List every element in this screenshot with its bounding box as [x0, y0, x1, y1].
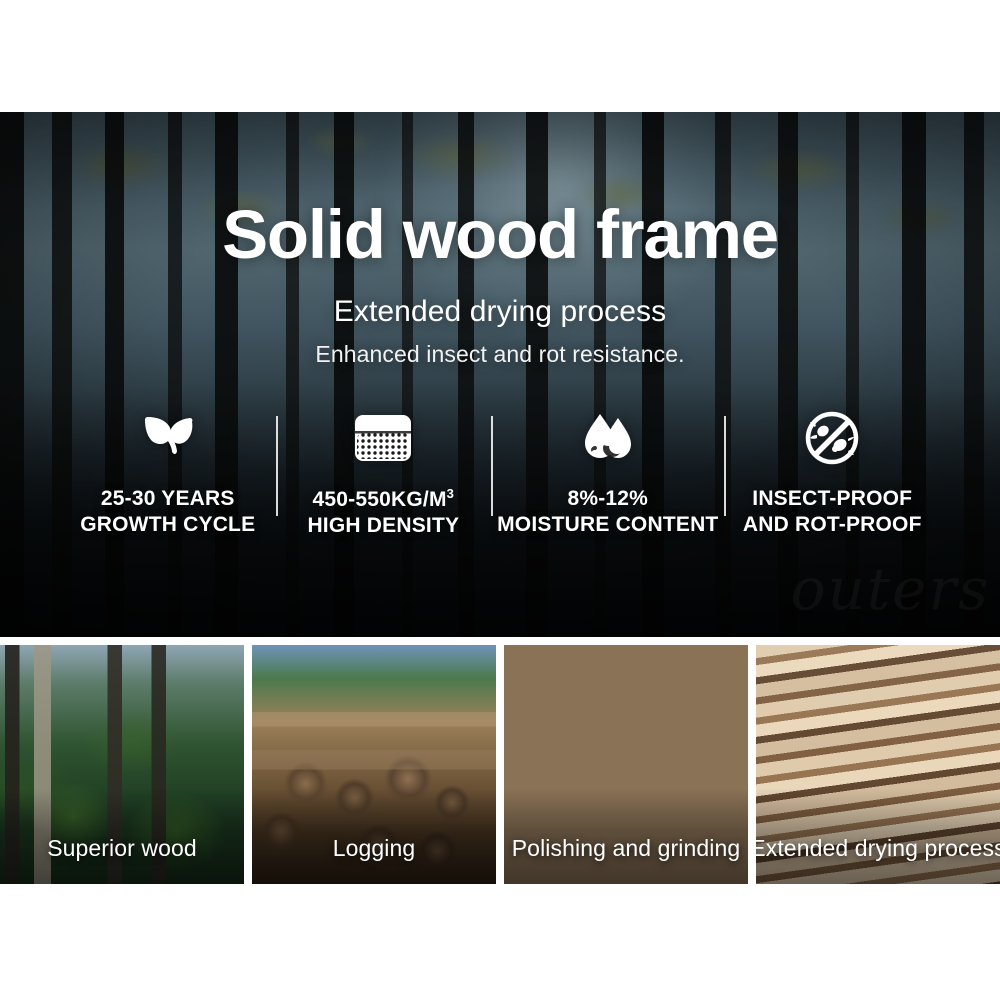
feature-insect-rot-proof: INSECT-PROOF AND ROT-PROOF — [724, 410, 940, 537]
page-subtitle: Extended drying process — [334, 295, 667, 329]
photo-caption-text: Logging — [333, 835, 416, 862]
leaf-icon — [140, 410, 196, 466]
photo-card-superior-wood[interactable]: Superior wood — [0, 645, 244, 884]
feature-value: INSECT-PROOF — [752, 486, 912, 512]
feature-label: MOISTURE CONTENT — [497, 512, 718, 538]
hero-content: Solid wood frame Extended drying process… — [0, 112, 1000, 637]
feature-value: 8%-12% — [567, 486, 648, 512]
feature-moisture-content: 8%-12% MOISTURE CONTENT — [491, 410, 724, 537]
no-insect-icon — [805, 410, 859, 466]
feature-label: HIGH DENSITY — [307, 513, 459, 539]
photo-caption: Extended drying process — [756, 788, 1000, 884]
hero-banner: outers Solid wood frame Extended drying … — [0, 112, 1000, 637]
feature-high-density: 450-550KG/M3 HIGH DENSITY — [276, 410, 492, 538]
photo-caption: Polishing and grinding — [504, 788, 748, 884]
page-title: Solid wood frame — [222, 200, 778, 269]
photo-caption-text: Polishing and grinding — [512, 835, 741, 862]
feature-value: 450-550KG/M3 — [313, 486, 455, 513]
photo-card-polishing-grinding[interactable]: Polishing and grinding — [504, 645, 748, 884]
photo-caption-text: Extended drying process — [756, 835, 1000, 862]
feature-list: 25-30 YEARS GROWTH CYCLE — [60, 410, 940, 538]
density-block-icon — [354, 410, 412, 466]
photo-card-extended-drying[interactable]: Extended drying process — [756, 645, 1000, 884]
page-tagline: Enhanced insect and rot resistance. — [315, 341, 684, 368]
photo-card-logging[interactable]: Logging — [252, 645, 496, 884]
feature-label: GROWTH CYCLE — [80, 512, 255, 538]
feature-label: AND ROT-PROOF — [743, 512, 922, 538]
feature-value: 25-30 YEARS — [101, 486, 235, 512]
feature-growth-cycle: 25-30 YEARS GROWTH CYCLE — [60, 410, 276, 537]
process-photo-strip: Superior wood Logging Polishing and grin… — [0, 645, 1000, 884]
water-droplets-icon — [578, 410, 638, 466]
photo-caption-text: Superior wood — [47, 835, 197, 862]
photo-caption: Superior wood — [0, 788, 244, 884]
photo-caption: Logging — [252, 788, 496, 884]
